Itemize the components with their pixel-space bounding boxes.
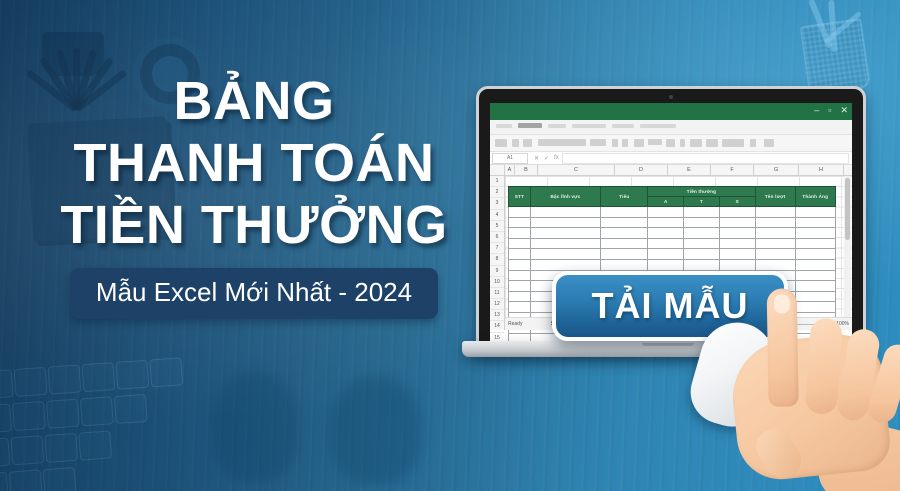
minimize-icon[interactable]: – [814, 106, 819, 115]
cancel-formula-icon[interactable]: ✕ [534, 155, 539, 162]
column-header-e[interactable]: E [668, 165, 711, 175]
excel-toolbar[interactable] [490, 135, 852, 152]
status-ready-label: Ready [508, 321, 522, 327]
column-header-h[interactable]: H [799, 165, 844, 175]
select-all-corner[interactable] [490, 165, 505, 175]
th-bonus-group: Tiền thưởng [648, 187, 755, 197]
table-row [509, 238, 836, 249]
confirm-formula-icon[interactable]: ✓ [544, 155, 549, 162]
headline-line-1: BẢNG [44, 74, 464, 128]
th-criteria: Tiêu [601, 187, 648, 207]
row-header[interactable]: 4 [490, 210, 504, 221]
excel-formula-bar[interactable]: A1 ✕ ✓ fx [490, 152, 852, 165]
row-header[interactable]: 1 [490, 176, 504, 187]
name-box[interactable]: A1 [492, 153, 528, 164]
formula-input[interactable] [562, 153, 849, 164]
row-header[interactable]: 9 [490, 266, 504, 277]
column-header-d[interactable]: D [615, 165, 668, 175]
th-signature: Thành Ảng [795, 187, 835, 207]
row-header[interactable]: 8 [490, 254, 504, 265]
table-row [509, 207, 836, 218]
row-header[interactable]: 6 [490, 232, 504, 243]
row-header[interactable]: 14 [490, 321, 504, 332]
row-header[interactable]: 7 [490, 243, 504, 254]
th-bonus-s: S [719, 197, 755, 207]
close-icon[interactable]: ✕ [840, 106, 848, 115]
table-row [509, 259, 836, 270]
row-header[interactable]: 10 [490, 277, 504, 288]
th-fullname: Bậc lĩnh vực [530, 187, 600, 207]
column-header-g[interactable]: G [754, 165, 799, 175]
headline-line-3: TIỀN THƯỞNG [44, 198, 464, 252]
poster-canvas: BẢNG THANH TOÁN TIỀN THƯỞNG Mẫu Excel Mớ… [0, 0, 900, 491]
insert-function-icon[interactable]: fx [554, 155, 559, 162]
table-row [509, 217, 836, 228]
row-header[interactable]: 12 [490, 299, 504, 310]
th-bonus-a: A [648, 197, 684, 207]
row-header[interactable]: 5 [490, 221, 504, 232]
subtitle-badge: Mẫu Excel Mới Nhất - 2024 [70, 268, 438, 319]
table-header-row-main: STT Bậc lĩnh vực Tiêu Tiền thưởng Tên lư… [509, 187, 836, 197]
webcam-icon [669, 95, 673, 99]
headline-line-2: THANH TOÁN [44, 136, 464, 190]
th-total: Tên lượt [755, 187, 795, 207]
column-header-b[interactable]: B [515, 165, 538, 175]
row-header[interactable]: 13 [490, 310, 504, 321]
index-finger [767, 288, 799, 407]
maximize-icon[interactable]: ▫ [828, 106, 831, 115]
th-stt: STT [509, 187, 531, 207]
excel-ribbon-tabs[interactable] [490, 120, 852, 135]
excel-title-bar: – ▫ ✕ [490, 103, 852, 120]
column-header-c[interactable]: C [538, 165, 615, 175]
table-row [509, 228, 836, 239]
palm [727, 330, 893, 483]
row-header-column: 1 2 3 4 5 6 7 8 9 10 11 12 13 14 [490, 176, 505, 330]
hand-with-mouse-illustration [700, 300, 900, 491]
thumb [749, 422, 808, 485]
headline-block: BẢNG THANH TOÁN TIỀN THƯỞNG Mẫu Excel Mớ… [44, 74, 464, 319]
row-header[interactable]: 3 [490, 198, 504, 209]
column-header-a[interactable]: A [505, 165, 515, 175]
row-header[interactable]: 11 [490, 288, 504, 299]
column-header-row: A B C D E F G H [490, 165, 852, 176]
table-row [509, 249, 836, 260]
middle-finger [805, 317, 844, 415]
column-header-f[interactable]: F [711, 165, 754, 175]
th-bonus-t: T [684, 197, 720, 207]
row-header[interactable]: 2 [490, 187, 504, 198]
